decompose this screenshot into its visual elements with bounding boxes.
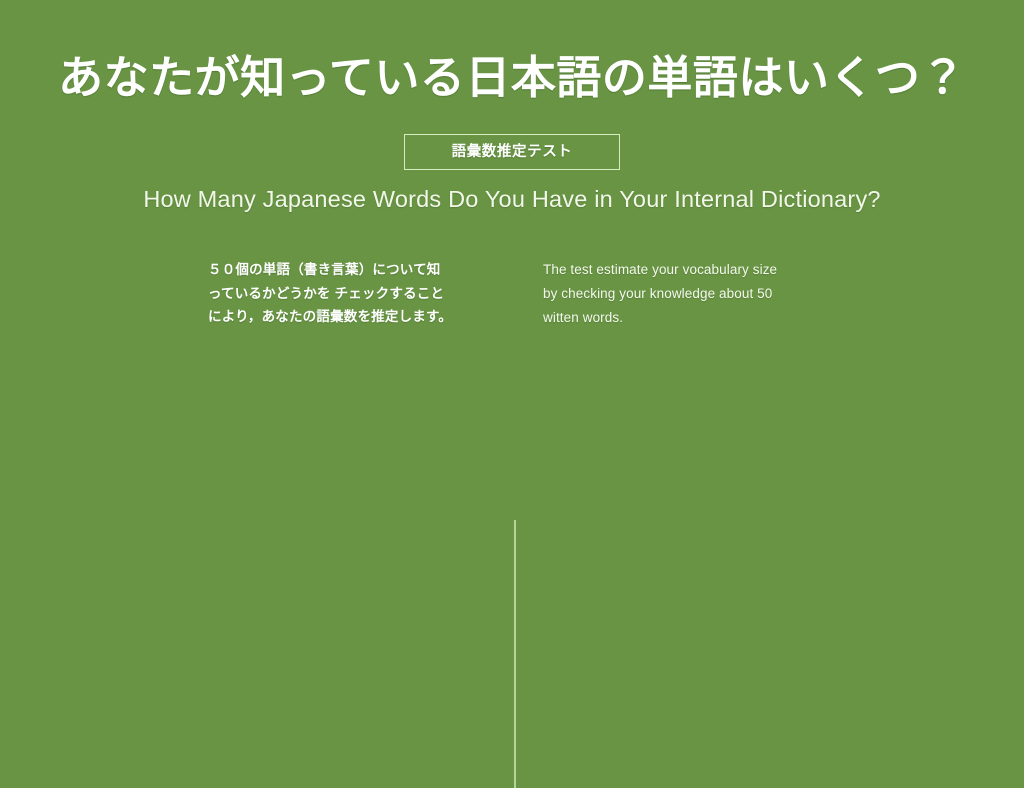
column-divider [514, 520, 516, 788]
title-block: あなたが知っている日本語の単語はいくつ？ [0, 52, 1024, 104]
title-slide: あなたが知っている日本語の単語はいくつ？ 語彙数推定テスト How Many J… [0, 0, 1024, 576]
body-area: ５０個の単語（書き言葉）について知 っているかどうかを チェックすること により… [0, 258, 1024, 548]
page-title: あなたが知っている日本語の単語はいくつ？ [0, 52, 1024, 104]
description-line-en-3: witten words. [543, 306, 823, 330]
description-column-japanese: ５０個の単語（書き言葉）について知 っているかどうかを チェックすること により… [208, 258, 486, 329]
description-line-ja-3: により，あなたの語彙数を推定します。 [208, 305, 486, 329]
description-column-english: The test estimate your vocabulary size b… [543, 258, 823, 330]
description-line-en-1: The test estimate your vocabulary size [543, 258, 823, 282]
description-line-ja-2: っているかどうかを チェックすること [208, 282, 486, 306]
test-name-badge: 語彙数推定テスト [404, 134, 620, 170]
page-subtitle: How Many Japanese Words Do You Have in Y… [0, 185, 1024, 213]
description-line-ja-1: ５０個の単語（書き言葉）について知 [208, 258, 486, 282]
description-line-en-2: by checking your knowledge about 50 [543, 282, 823, 306]
subtitle-row: How Many Japanese Words Do You Have in Y… [0, 185, 1024, 213]
badge-row: 語彙数推定テスト [0, 134, 1024, 170]
